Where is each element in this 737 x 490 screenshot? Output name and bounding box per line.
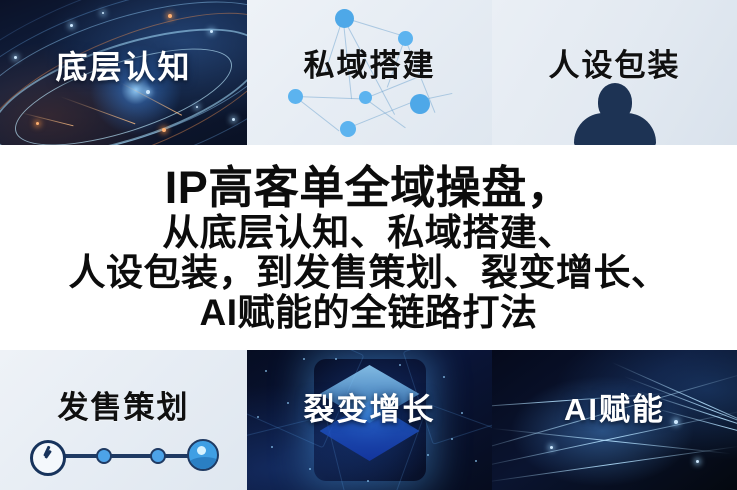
tile-ai-empowerment[interactable]: AI赋能 [492, 350, 737, 490]
clock-icon [30, 440, 66, 476]
tile-fission-growth[interactable]: 裂变增长 [247, 350, 492, 490]
poster-canvas: 底层认知 [0, 0, 737, 490]
headline-line-2: 从底层认知、私域搭建、 [162, 214, 575, 251]
tile-foundation-cognition[interactable]: 底层认知 [0, 0, 247, 145]
person-silhouette-icon [570, 83, 660, 145]
tile-launch-planning[interactable]: 发售策划 [0, 350, 247, 490]
headline-banner: IP高客单全域操盘， 从底层认知、私域搭建、 人设包装，到发售策划、裂变增长、 … [0, 145, 737, 350]
tile-label-fission-growth: 裂变增长 [247, 384, 492, 429]
timeline-end-node [187, 439, 219, 471]
tile-label-foundation-cognition: 底层认知 [0, 42, 247, 88]
tile-label-private-domain: 私域搭建 [247, 40, 492, 85]
bottom-tile-row: 发售策划 [0, 350, 737, 490]
top-tile-row: 底层认知 [0, 0, 737, 145]
tile-label-persona-packaging: 人设包装 [492, 40, 737, 85]
headline-line-3: 人设包装，到发售策划、裂变增长、 [69, 254, 669, 291]
tile-label-ai-empowerment: AI赋能 [492, 384, 737, 429]
clock-timeline-icon [22, 438, 225, 472]
headline-line-4: AI赋能的全链路打法 [200, 294, 538, 331]
tile-label-launch-planning: 发售策划 [0, 382, 247, 427]
headline-line-1: IP高客单全域操盘， [165, 165, 573, 210]
tile-private-domain[interactable]: 私域搭建 [247, 0, 492, 145]
tile-persona-packaging[interactable]: 人设包装 [492, 0, 737, 145]
